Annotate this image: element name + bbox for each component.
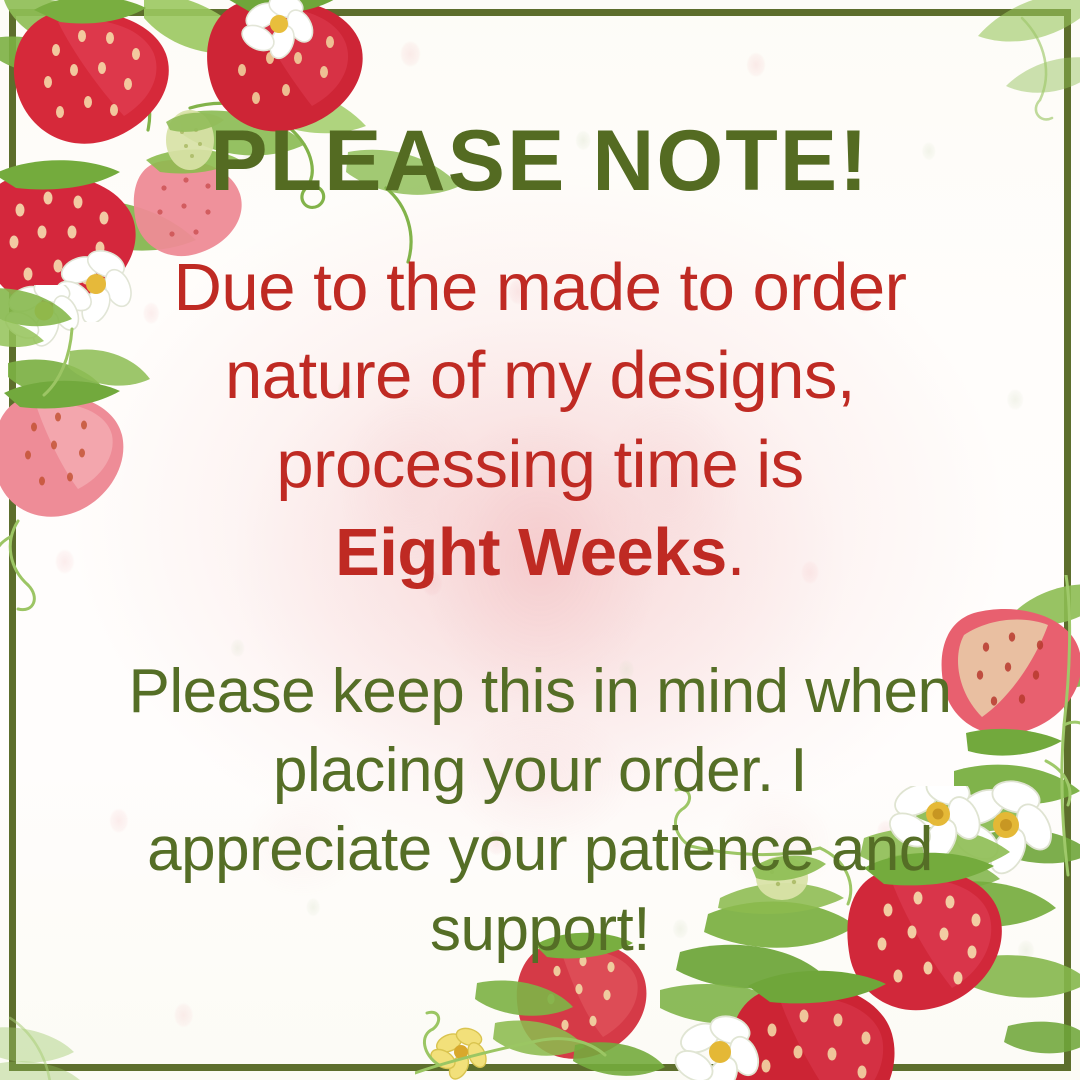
announcement-card: PLEASE NOTE! Due to the made to order na… xyxy=(0,0,1080,1080)
notice-paragraph: Due to the made to order nature of my de… xyxy=(174,244,907,598)
processing-time-value: Eight Weeks xyxy=(335,515,727,590)
notice-emphasis-suffix: . xyxy=(727,515,745,590)
notice-emphasis-line: Eight Weeks. xyxy=(174,509,907,597)
notice-line-3: processing time is xyxy=(174,421,907,509)
text-content: PLEASE NOTE! Due to the made to order na… xyxy=(0,0,1080,1080)
closing-line-4: support! xyxy=(129,890,952,969)
notice-line-1: Due to the made to order xyxy=(174,244,907,332)
closing-paragraph: Please keep this in mind when placing yo… xyxy=(129,652,952,969)
closing-line-2: placing your order. I xyxy=(129,731,952,810)
closing-line-3: appreciate your patience and xyxy=(129,810,952,889)
closing-line-1: Please keep this in mind when xyxy=(129,652,952,731)
notice-line-2: nature of my designs, xyxy=(174,332,907,420)
page-title: PLEASE NOTE! xyxy=(210,118,870,204)
